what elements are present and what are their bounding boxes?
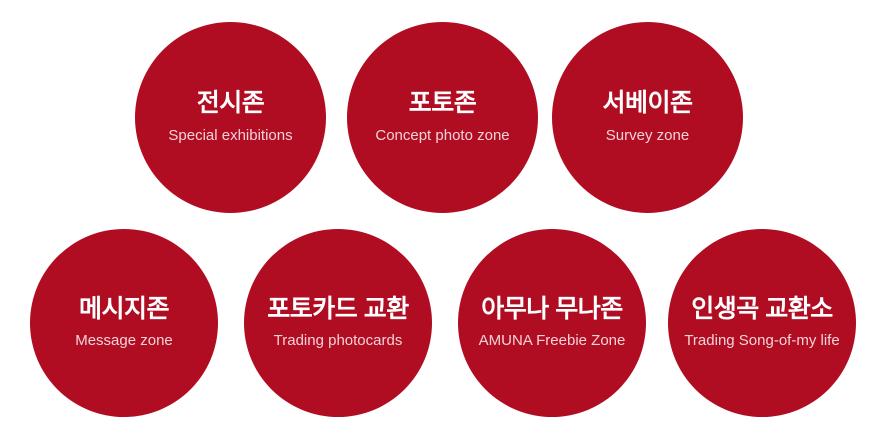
zone-subtitle: AMUNA Freebie Zone xyxy=(479,332,626,350)
zone-subtitle: Trading Song-of-my life xyxy=(684,332,839,350)
zone-subtitle: Survey zone xyxy=(602,127,692,145)
zone-title: 서베이존 xyxy=(602,90,692,118)
zone-title: 포토카드 교환 xyxy=(267,296,408,324)
zone-subtitle: Trading photocards xyxy=(274,332,403,350)
zone-subtitle: Concept photo zone xyxy=(375,127,509,145)
zone-title: 포토존 xyxy=(375,90,509,118)
zone-circle-song-of-my-life-zone[interactable]: 인생곡 교환소Trading Song-of-my life xyxy=(668,229,856,417)
zone-circle-exhibition-zone[interactable]: 전시존Special exhibitions xyxy=(135,22,326,213)
zone-map-canvas: 전시존Special exhibitions포토존Concept photo z… xyxy=(0,0,883,445)
zone-label-group: 인생곡 교환소Trading Song-of-my life xyxy=(684,296,839,351)
zone-title: 인생곡 교환소 xyxy=(691,296,832,324)
zone-title: 아무나 무나존 xyxy=(481,296,622,324)
zone-label-group: 메시지존Message zone xyxy=(75,296,173,351)
zone-label-group: 서베이존Survey zone xyxy=(602,90,692,145)
zone-label-group: 포토카드 교환Trading photocards xyxy=(267,296,408,351)
zone-title: 전시존 xyxy=(168,90,292,118)
zone-circle-amuna-freebie-zone[interactable]: 아무나 무나존AMUNA Freebie Zone xyxy=(458,229,646,417)
zone-circle-message-zone[interactable]: 메시지존Message zone xyxy=(30,229,218,417)
zone-subtitle: Special exhibitions xyxy=(168,127,292,145)
zone-subtitle: Message zone xyxy=(75,332,173,350)
zone-label-group: 전시존Special exhibitions xyxy=(168,90,292,145)
zone-label-group: 아무나 무나존AMUNA Freebie Zone xyxy=(479,296,626,351)
zone-title: 메시지존 xyxy=(79,296,169,324)
zone-circle-trading-photocards-zone[interactable]: 포토카드 교환Trading photocards xyxy=(244,229,432,417)
zone-circle-photo-zone[interactable]: 포토존Concept photo zone xyxy=(347,22,538,213)
zone-circle-survey-zone[interactable]: 서베이존Survey zone xyxy=(552,22,743,213)
zone-label-group: 포토존Concept photo zone xyxy=(375,90,509,145)
